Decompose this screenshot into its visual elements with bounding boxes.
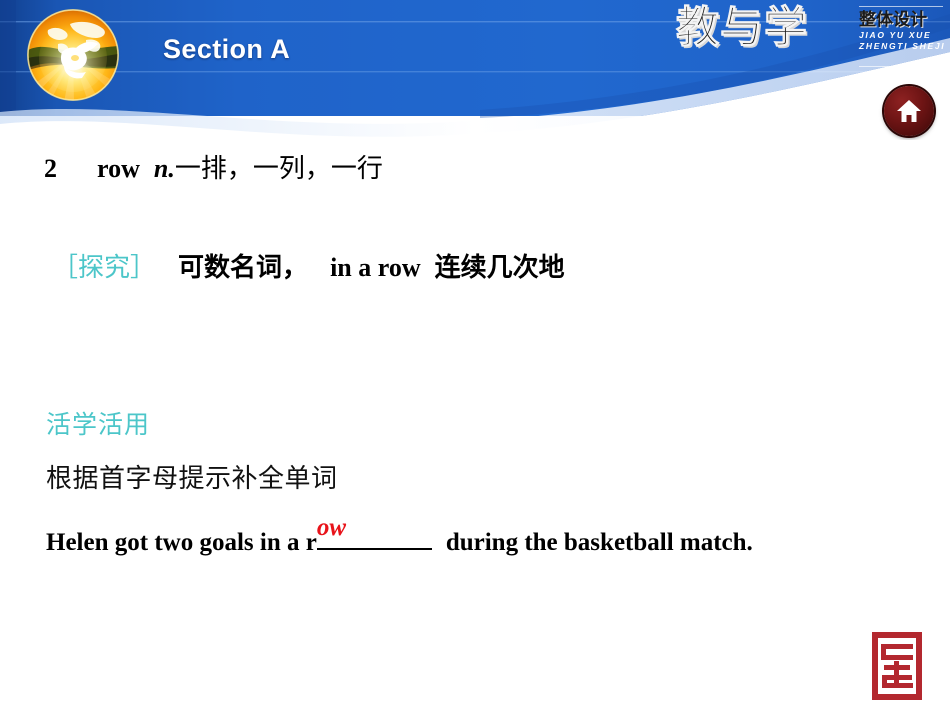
- home-icon: [895, 97, 923, 125]
- answer-blank[interactable]: ow: [317, 521, 432, 550]
- publisher-seal-icon: [870, 630, 924, 702]
- explore-label: 探究: [78, 253, 130, 282]
- home-button[interactable]: [884, 86, 934, 136]
- entry-definition: 一排，一列，一行: [175, 154, 383, 183]
- vocab-entry-line: 2rown.一排，一列，一行: [44, 148, 383, 185]
- brand-logo: 教与学 整体设计 JIAO YU XUE ZHENGTI SHEJI: [676, 4, 941, 76]
- page-title: Section A: [163, 34, 290, 65]
- brand-main-text: 教与学: [676, 4, 808, 52]
- slide-content: 2rown.一排，一列，一行 ［探究］可数名词，in a row连续几次地 活学…: [0, 140, 950, 713]
- entry-word: row: [97, 154, 140, 183]
- brand-rule-top: [859, 6, 943, 7]
- explore-note-cn: 可数名词，: [178, 253, 308, 282]
- explore-note-line: ［探究］可数名词，in a row连续几次地: [52, 247, 565, 284]
- explore-bracket-open: ［: [52, 253, 78, 282]
- explore-bracket-close: ］: [130, 253, 156, 282]
- entry-part-of-speech: n.: [154, 154, 175, 183]
- entry-number: 2: [44, 154, 57, 183]
- brand-rule-bottom: [859, 66, 945, 67]
- brand-sub-block: 整体设计 JIAO YU XUE ZHENGTI SHEJI: [859, 10, 945, 52]
- sentence-prefix: Helen got two goals in a r: [46, 529, 317, 556]
- apply-section-heading: 活学活用: [46, 405, 150, 441]
- explore-phrase-cn: 连续几次地: [435, 253, 565, 282]
- exercise-sentence: Helen got two goals in a rowduring the b…: [46, 521, 753, 557]
- answer-text: ow: [317, 514, 346, 542]
- explore-phrase-en: in a row: [330, 253, 421, 282]
- brand-pinyin-line1: JIAO YU XUE: [859, 30, 945, 41]
- brand-pinyin-line2: ZHENGTI SHEJI: [859, 41, 945, 52]
- header-banner: Section A 教与学 整体设计 JIAO YU XUE ZHENGTI S…: [0, 0, 950, 140]
- apply-instruction: 根据首字母提示补全单词: [46, 458, 338, 495]
- brand-sub-text: 整体设计: [859, 10, 945, 30]
- sentence-suffix: during the basketball match.: [446, 529, 753, 556]
- globe-emblem-icon: [24, 6, 122, 104]
